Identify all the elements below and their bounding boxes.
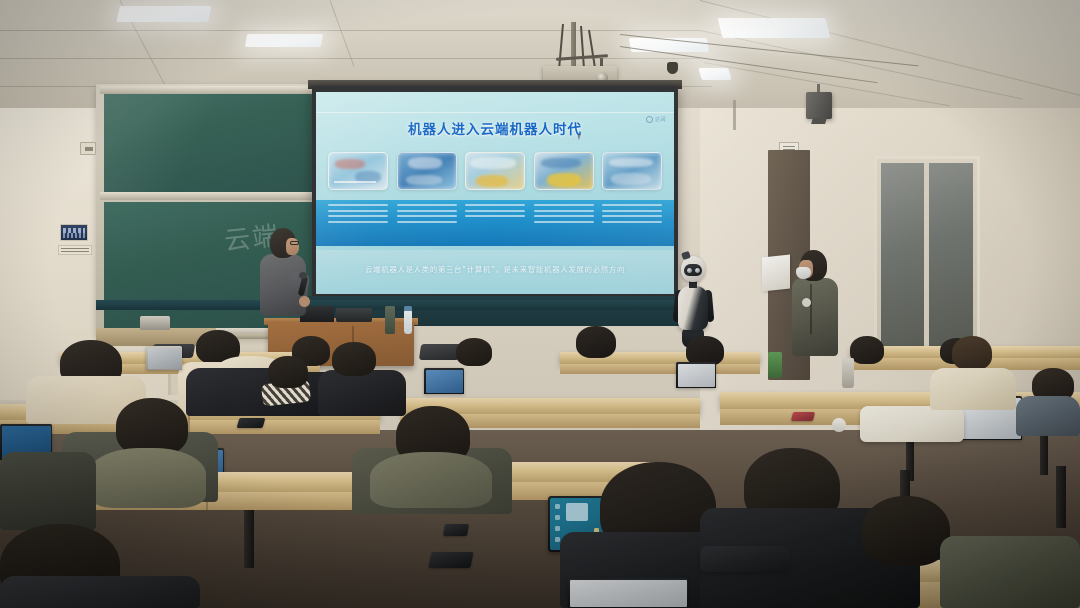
paper-cup[interactable] [832,418,846,432]
remote-control[interactable] [443,524,469,536]
ceiling-light [698,68,731,80]
band-column-2 [397,204,457,226]
stage-rail [96,300,706,310]
wall-speaker [806,92,832,119]
student-bag[interactable] [700,546,790,572]
slide-panel-1 [328,152,388,190]
water-bottle[interactable] [842,358,854,388]
student-laptop[interactable] [424,368,464,394]
student-bag[interactable] [860,406,964,442]
student-phone[interactable] [428,552,473,568]
desk-leg [244,510,254,568]
student-head [850,336,884,364]
wall-instruction-label [58,245,92,255]
presenter-hand [299,296,310,307]
student-torso [1016,396,1080,436]
lectern-equipment [336,308,372,322]
presenter [252,228,316,332]
student-hood [88,448,206,508]
student-head [456,338,492,366]
projector-mount-pole [571,22,576,68]
glasses-icon [290,241,299,245]
ceiling-seam [0,30,700,31]
wall-outlet[interactable] [80,142,96,155]
student-phone[interactable] [237,418,266,428]
thermos-flask[interactable] [385,306,395,334]
multimedia-control-panel[interactable] [60,224,88,241]
standing-attendee [788,250,842,360]
slide-caption: 云端机器人是人类的第三台“计算机”，是未来智能机器人发展的必然方向 [316,264,674,275]
robot-eye-icon [687,268,692,273]
student-torso [0,576,200,608]
classroom-scene: 云端 机器人进入云端机器人时代 达闼 [0,0,1080,608]
bottle-cap [404,306,412,311]
tablet-window[interactable] [566,503,588,521]
band-column-3 [465,204,525,226]
student-head [332,342,376,376]
slide-image-panels [328,152,662,190]
hanging-paper [762,255,790,292]
ceiling-light [116,6,211,22]
wall-vent [733,100,736,130]
student-torso [940,536,1080,608]
slide-panel-5 [602,152,662,190]
microphone-head [299,272,307,279]
slide-panel-2 [397,152,457,190]
student-head [268,356,308,388]
red-phone[interactable] [791,412,815,421]
jacket-zipper [810,284,812,334]
slide-panel-4 [534,152,594,190]
chalkboard-rail [100,86,324,94]
student-torso [930,368,1016,410]
student-hood [370,452,492,508]
ceiling-sensor-icon [667,62,678,74]
desk-row-a2-front [560,364,760,374]
slide-band-columns [328,204,662,226]
student-torso [0,452,96,530]
student-laptop[interactable] [568,578,688,608]
ceiling-light [718,18,831,38]
robot-torso [678,286,708,330]
student-laptop[interactable] [676,362,716,388]
service-robot [672,256,714,348]
window-mullion [924,163,929,363]
green-bottle[interactable] [768,352,782,378]
chair-back [419,344,461,360]
band-column-5 [602,204,662,226]
ceiling-light [245,34,323,47]
student-torso [318,370,406,416]
jacket-badge [802,298,811,307]
chalkboard-glare [104,90,320,194]
front-table-laptop[interactable] [140,316,170,330]
student-head-ponytail [952,336,992,370]
band-column-1 [328,204,388,226]
speaker-foot [811,118,827,124]
robot-eye-icon [695,268,700,273]
student-head [862,496,950,566]
student-head [576,326,616,358]
slide-logo: 达闼 [646,116,666,123]
attendee-body [792,278,838,356]
band-column-4 [534,204,594,226]
desk-leg [1056,466,1066,528]
slide-header-rule [316,112,674,113]
logo-text: 达闼 [655,116,666,123]
water-bottle[interactable] [404,310,412,334]
logo-mark-icon [646,116,653,123]
slide-panel-3 [465,152,525,190]
chalkboard-rail [100,192,324,200]
student-laptop[interactable] [146,346,182,370]
presentation-slide[interactable]: 机器人进入云端机器人时代 达闼 [316,92,674,294]
slide-title: 机器人进入云端机器人时代 [316,118,674,138]
